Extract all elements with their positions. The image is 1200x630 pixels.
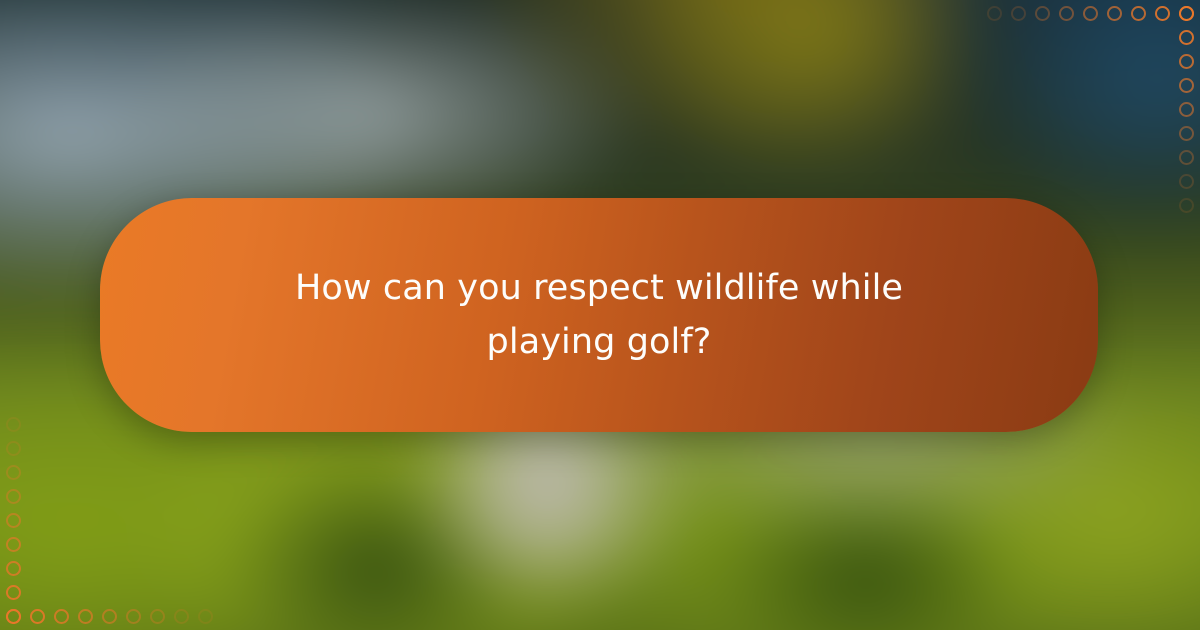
question-text: How can you respect wildlife while playi… <box>229 261 969 370</box>
question-card-banner: How can you respect wildlife while playi… <box>0 0 1200 630</box>
question-card: How can you respect wildlife while playi… <box>100 198 1098 432</box>
